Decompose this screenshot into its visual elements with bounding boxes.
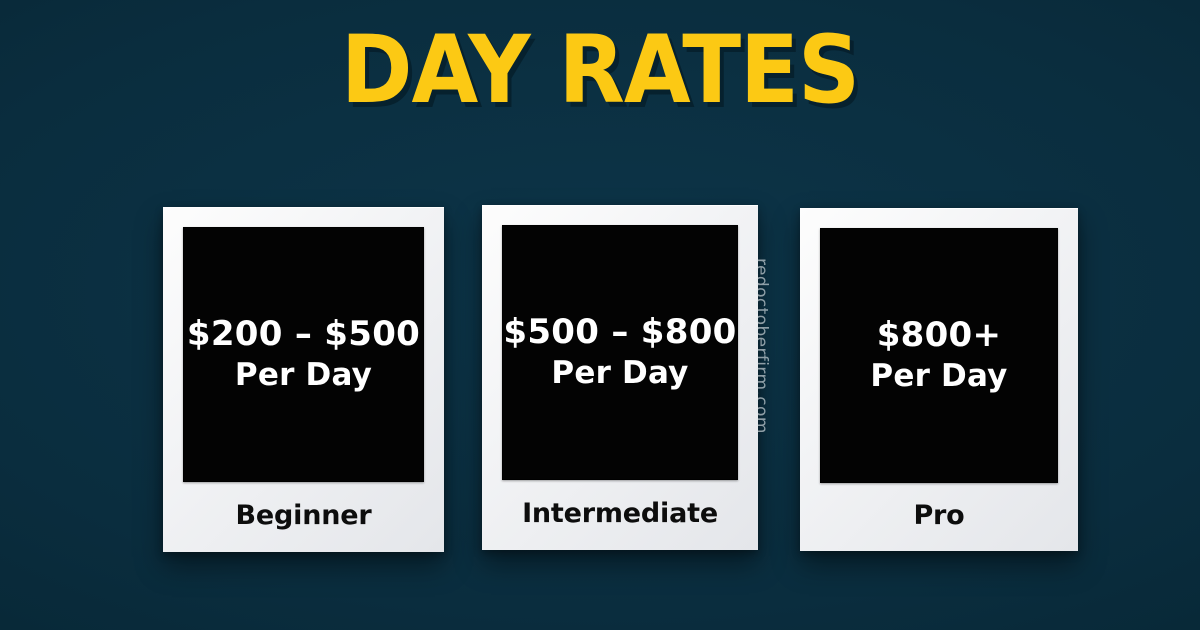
- page-title: DAY RATES: [0, 24, 1200, 118]
- rate-card-row: $200 – $500 Per Day Beginner $500 – $800…: [0, 205, 1200, 555]
- watermark-text: redoctoberfirm.com: [751, 258, 771, 434]
- rate-card-beginner[interactable]: $200 – $500 Per Day Beginner: [163, 207, 444, 552]
- day-rates-poster: DAY RATES $200 – $500 Per Day Beginner $…: [0, 0, 1200, 630]
- rate-price: $800+: [877, 316, 1002, 355]
- rate-card-pro[interactable]: $800+ Per Day Pro: [800, 208, 1078, 551]
- rate-card-caption: Beginner: [183, 482, 424, 552]
- rate-card-photo-area: $800+ Per Day: [820, 228, 1058, 483]
- rate-card-caption: Pro: [820, 483, 1058, 551]
- rate-card-intermediate[interactable]: $500 – $800 Per Day Intermediate: [482, 205, 758, 550]
- rate-period: Per Day: [551, 355, 688, 392]
- rate-card-photo-area: $500 – $800 Per Day: [502, 225, 738, 480]
- rate-price: $500 – $800: [503, 313, 736, 352]
- rate-card-caption: Intermediate: [502, 480, 738, 550]
- rate-card-photo-area: $200 – $500 Per Day: [183, 227, 424, 482]
- rate-period: Per Day: [870, 358, 1007, 395]
- rate-price: $200 – $500: [187, 315, 420, 354]
- rate-period: Per Day: [235, 357, 372, 394]
